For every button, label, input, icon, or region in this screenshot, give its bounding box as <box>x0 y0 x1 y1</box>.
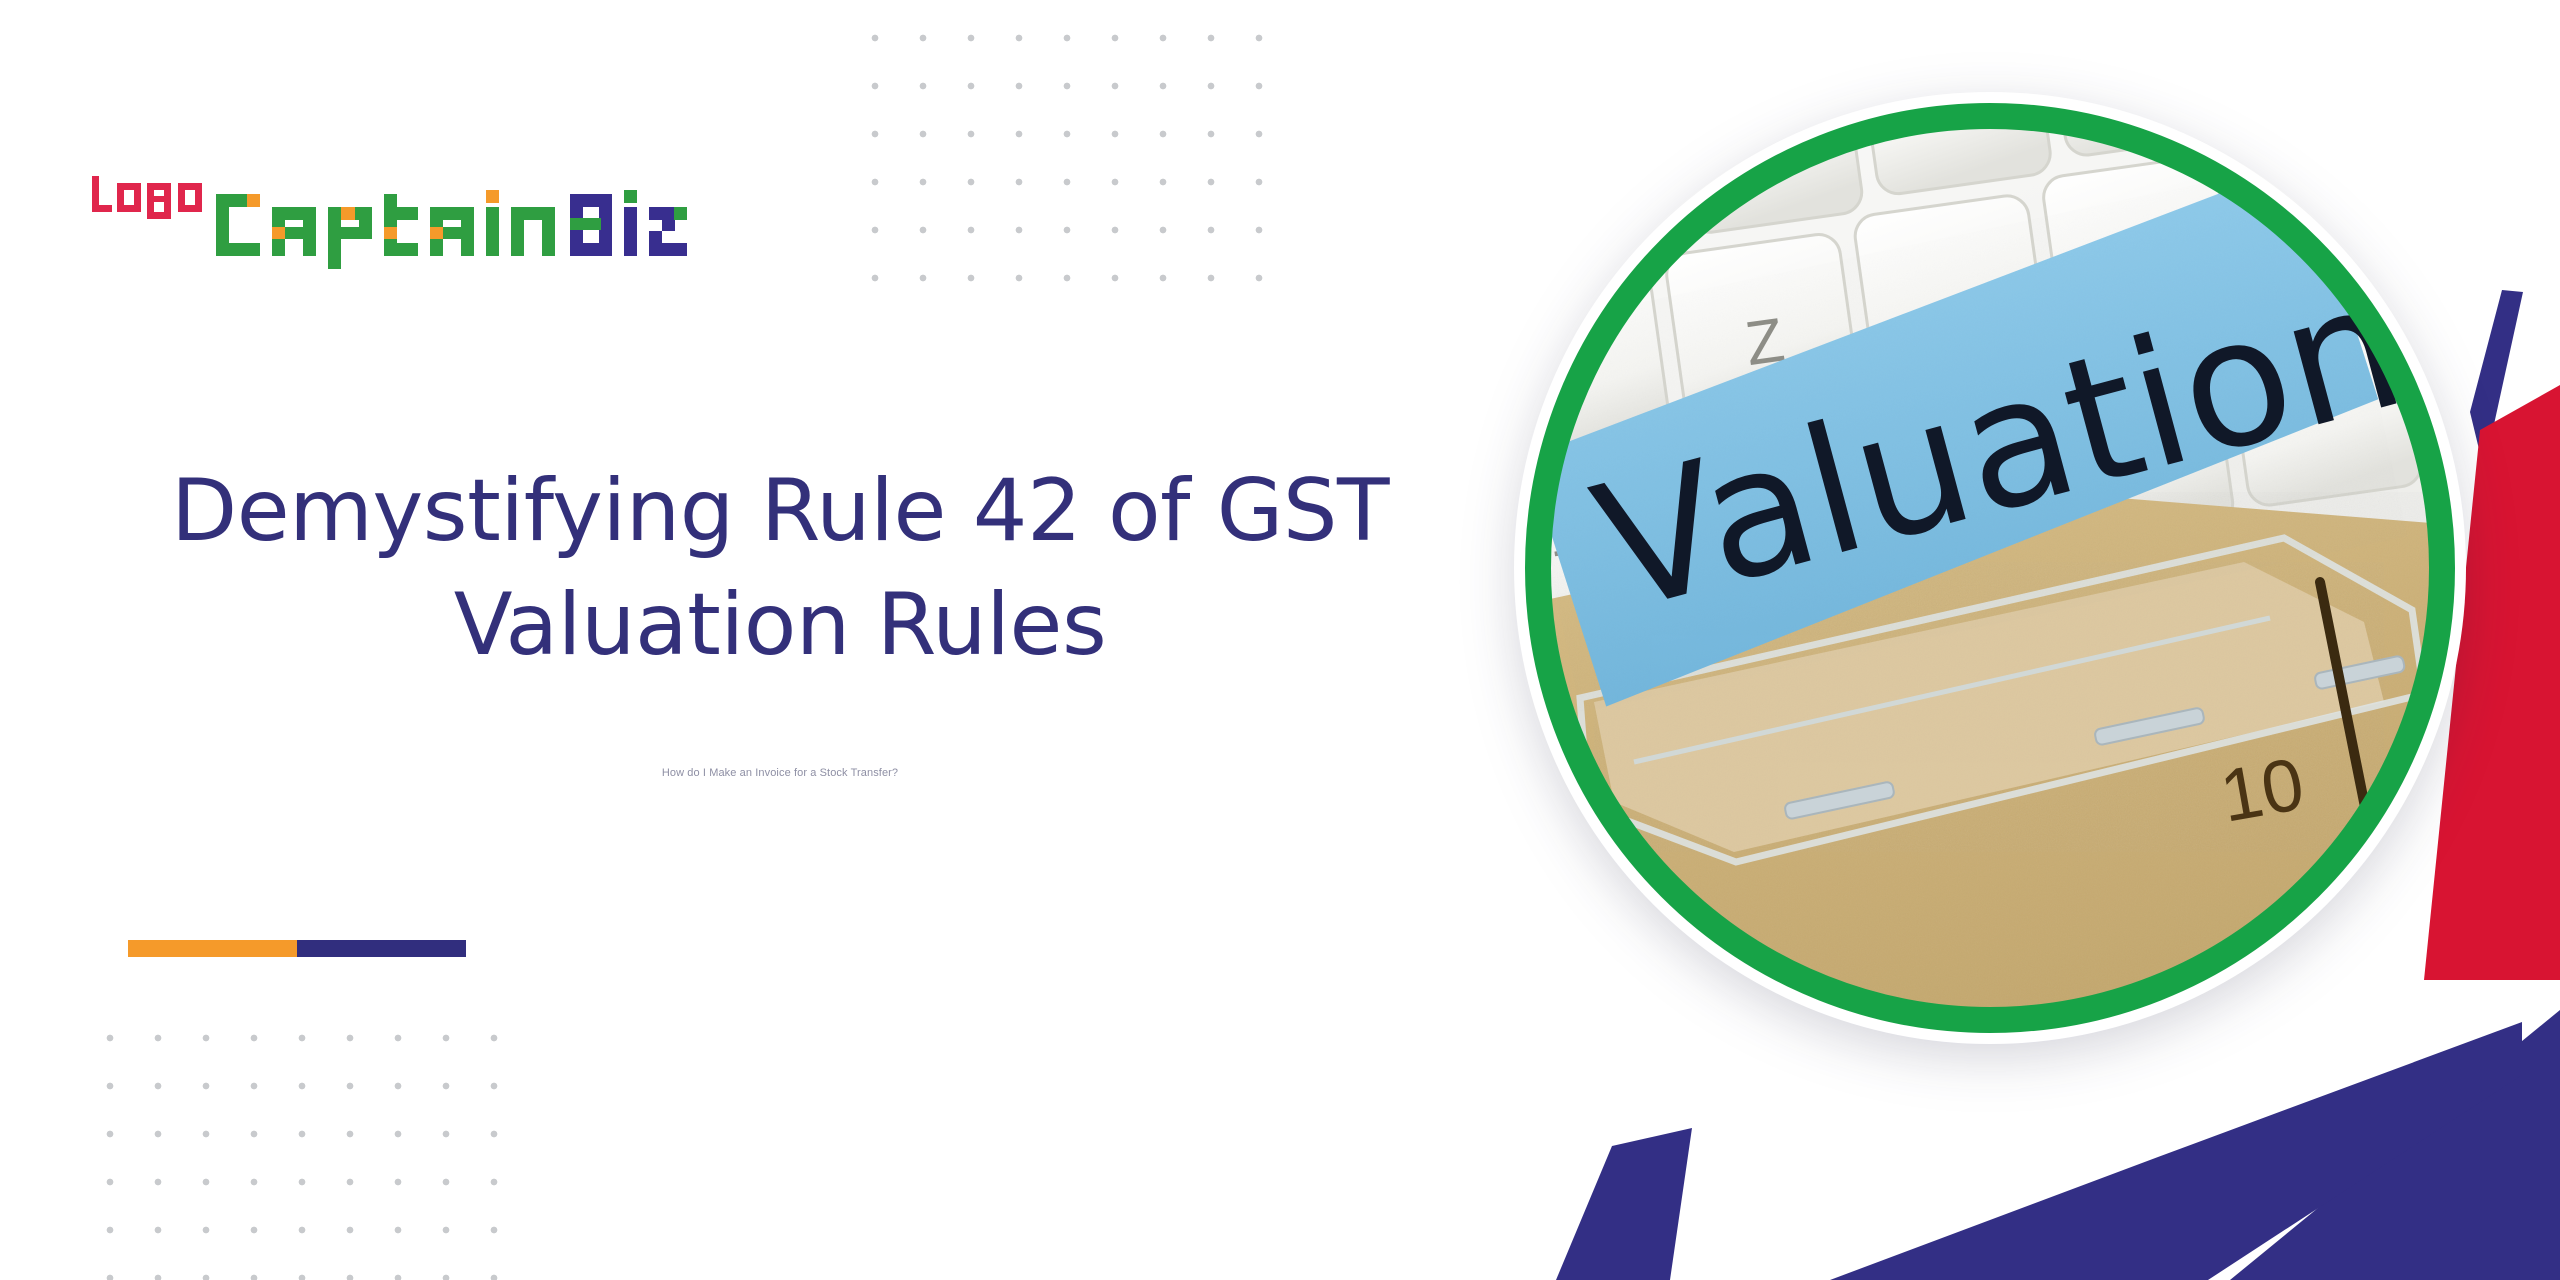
logo-badge-glyphs <box>92 176 202 219</box>
subtitle-question: How do I Make an Invoice for a Stock Tra… <box>60 766 1500 780</box>
folder-number-text: 10 <box>2214 742 2309 838</box>
photo-content: U Z J T <box>1484 62 2496 1074</box>
page-title-line1: Demystifying Rule 42 of GST <box>60 455 1500 569</box>
brand-logo[interactable] <box>88 172 688 282</box>
page-title: Demystifying Rule 42 of GST Valuation Ru… <box>60 455 1500 682</box>
captainbiz-logo-mark <box>88 172 688 282</box>
dot-grid-bottom <box>80 1008 535 1280</box>
banner-root: U Z J T <box>0 0 2560 1280</box>
navy-fin-left <box>1556 1128 1692 1280</box>
page-title-line2: Valuation Rules <box>60 569 1500 683</box>
accent-bar <box>128 940 466 957</box>
accent-bar-segment-navy <box>297 940 466 957</box>
accent-bar-segment-orange <box>128 940 297 957</box>
dot-grid-top <box>845 8 1295 293</box>
captainbiz-wordmark <box>216 190 687 269</box>
hero-photo-circle: U Z J T <box>1484 62 2496 1074</box>
